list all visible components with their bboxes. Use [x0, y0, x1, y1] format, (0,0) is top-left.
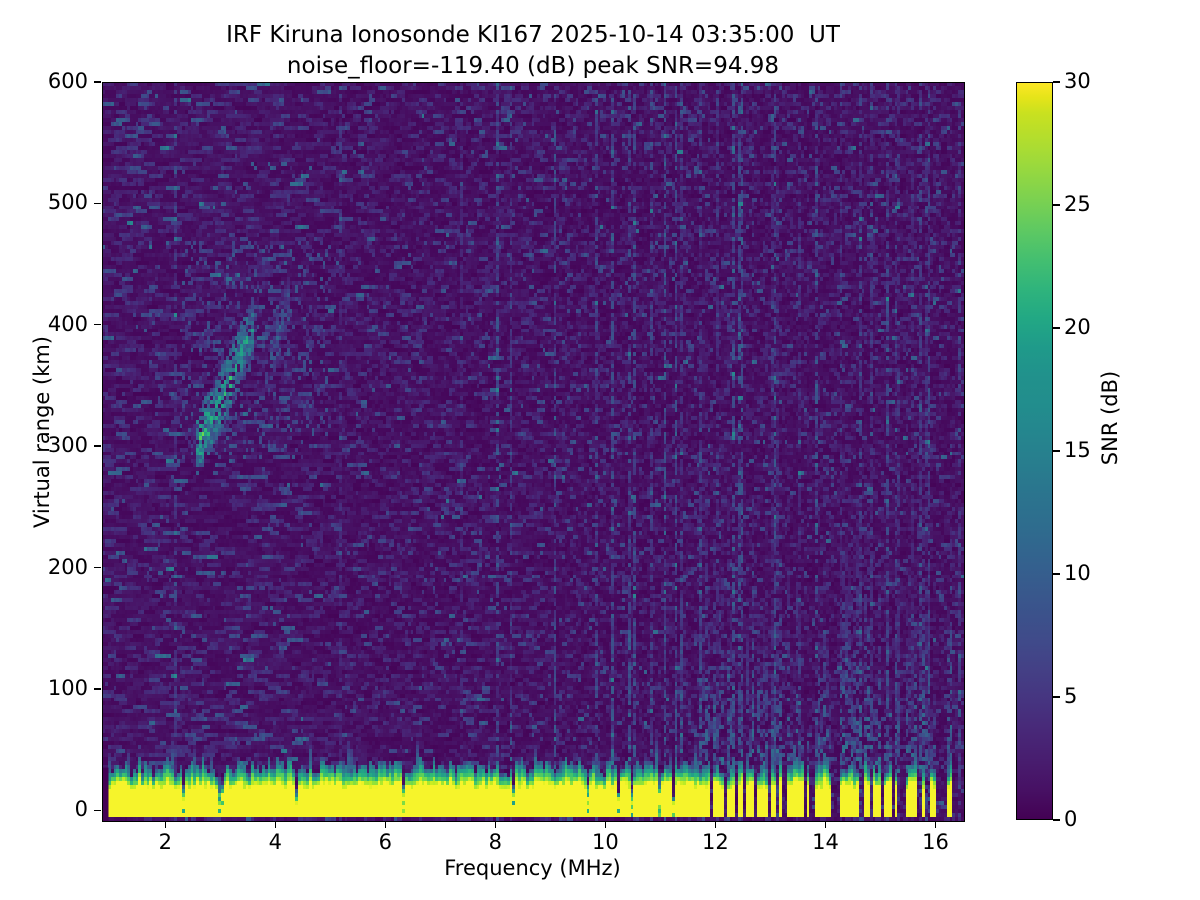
colorbar-tick-mark: [1053, 204, 1060, 205]
colorbar-tick-mark: [1053, 573, 1060, 574]
x-tick-label: 8: [465, 832, 525, 853]
y-tick-label: 100: [48, 678, 88, 699]
x-tick-label: 16: [905, 832, 965, 853]
y-tick-mark: [94, 445, 101, 446]
colorbar[interactable]: 051015202530: [1016, 82, 1053, 820]
x-tick-mark: [495, 821, 496, 828]
y-tick-mark: [94, 688, 101, 689]
figure-title: IRF Kiruna Ionosonde KI167 2025-10-14 03…: [0, 20, 1066, 82]
y-tick-label: 500: [48, 192, 88, 213]
colorbar-tick-label: 20: [1064, 317, 1091, 338]
y-tick-label: 600: [48, 71, 88, 92]
y-axis-label: Virtual range (km): [30, 272, 54, 592]
y-tick-mark: [94, 81, 101, 82]
colorbar-tick-label: 30: [1064, 71, 1091, 92]
x-tick-mark: [385, 821, 386, 828]
y-tick-mark: [94, 324, 101, 325]
y-tick-mark: [94, 567, 101, 568]
colorbar-tick-label: 0: [1064, 809, 1077, 830]
title-line-2: noise_floor=-119.40 (dB) peak SNR=94.98: [287, 53, 779, 79]
heatmap-plot-area[interactable]: [102, 82, 965, 822]
ionogram-figure: IRF Kiruna Ionosonde KI167 2025-10-14 03…: [0, 0, 1200, 900]
colorbar-tick-mark: [1053, 819, 1060, 820]
colorbar-tick-mark: [1053, 696, 1060, 697]
colorbar-tick-label: 10: [1064, 563, 1091, 584]
x-tick-label: 2: [135, 832, 195, 853]
x-tick-label: 4: [245, 832, 305, 853]
colorbar-gradient: [1016, 82, 1053, 820]
colorbar-label: SNR (dB): [1098, 318, 1122, 518]
x-tick-mark: [715, 821, 716, 828]
x-axis-label: Frequency (MHz): [102, 856, 963, 880]
colorbar-tick-label: 5: [1064, 686, 1077, 707]
colorbar-tick-label: 25: [1064, 194, 1091, 215]
x-tick-label: 6: [355, 832, 415, 853]
x-tick-label: 12: [685, 832, 745, 853]
x-tick-mark: [275, 821, 276, 828]
x-tick-mark: [605, 821, 606, 828]
x-tick-label: 10: [575, 832, 635, 853]
x-tick-mark: [165, 821, 166, 828]
x-tick-label: 14: [795, 832, 855, 853]
title-line-1: IRF Kiruna Ionosonde KI167 2025-10-14 03…: [226, 22, 840, 48]
y-tick-mark: [94, 810, 101, 811]
colorbar-tick-mark: [1053, 327, 1060, 328]
ionogram-heatmap[interactable]: [103, 83, 964, 821]
colorbar-tick-mark: [1053, 81, 1060, 82]
x-tick-mark: [825, 821, 826, 828]
y-tick-mark: [94, 203, 101, 204]
colorbar-tick-mark: [1053, 450, 1060, 451]
y-tick-label: 0: [75, 799, 88, 820]
x-tick-mark: [935, 821, 936, 828]
colorbar-tick-label: 15: [1064, 440, 1091, 461]
